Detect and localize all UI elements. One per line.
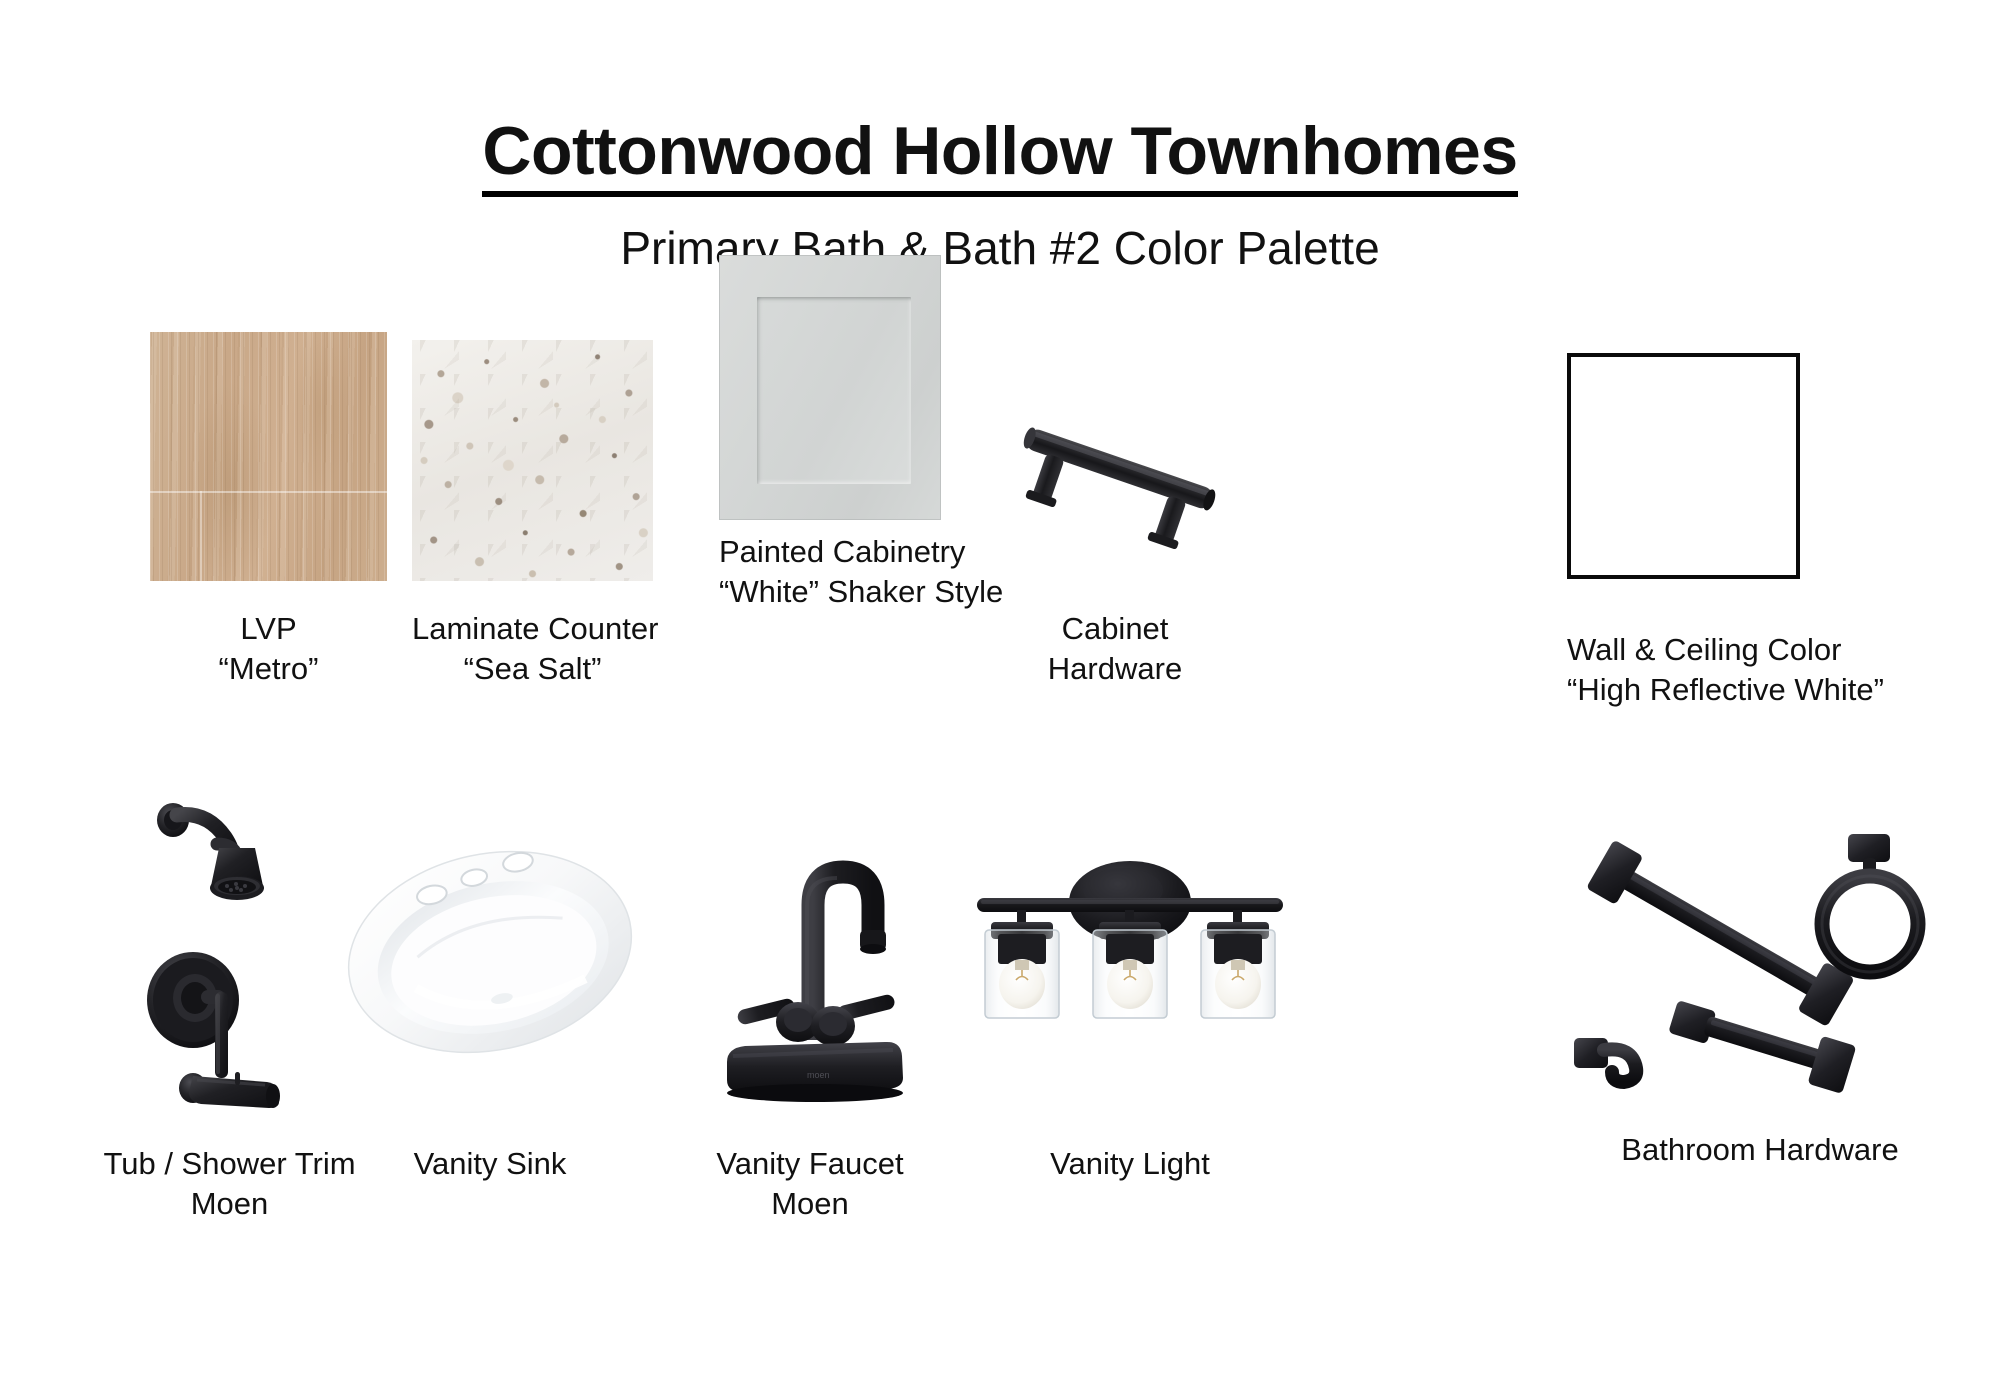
vanity-light-shade-left [985,910,1059,1018]
palette-item-laminate-counter: Laminate Counter “Sea Salt” [412,332,653,688]
vanity-sink-label-line1: Vanity Sink [414,1146,567,1181]
cabinet-hardware-label-line2: Hardware [1000,649,1230,689]
cabinet-swatch-wrap [719,255,941,504]
materials-row-1: LVP “Metro” Laminate Counter “Sea Salt” [0,332,2000,712]
vanity-light-shade-center [1093,910,1167,1018]
wall-color-caption: Wall & Ceiling Color “High Reflective Wh… [1567,630,1800,709]
terrazzo-swatch [412,340,653,581]
palette-item-vanity-light: Vanity Light [960,800,1300,1184]
laminate-label-line2: “Sea Salt” [412,649,653,689]
tub-shower-label-line2: Moen [72,1184,387,1224]
page-subtitle: Primary Bath & Bath #2 Color Palette [0,223,2000,274]
palette-item-bathroom-hardware: Bathroom Hardware [1540,800,1980,1170]
vanity-faucet-wrap: moen [650,800,970,1120]
shower-valve-trim-icon [147,952,239,1078]
bar-pull-image [1000,389,1230,569]
cabinet-hardware-caption: Cabinet Hardware [1000,609,1230,688]
shower-head-icon [157,803,264,900]
bathroom-hardware-caption: Bathroom Hardware [1540,1130,1980,1170]
wall-color-label-line2: “High Reflective White” [1567,670,1800,710]
bathroom-hardware-wrap [1540,800,1980,1120]
vanity-sink-wrap [330,800,650,1120]
wall-color-wrap [1567,353,1800,602]
vanity-light-shade-right [1201,910,1275,1018]
towel-bar-ring-hook-paper-holder-image [1560,820,1960,1120]
tub-spout-icon [179,1072,280,1108]
shaker-door-swatch [719,255,941,520]
bar-pull-wrap [1000,332,1230,581]
tub-shower-label-line1: Tub / Shower Trim [103,1146,355,1181]
terrazzo-grain-overlay [412,340,653,581]
shaker-door-recessed-panel [757,297,911,484]
vanity-light-label-line1: Vanity Light [1050,1146,1210,1181]
palette-item-vanity-sink: Vanity Sink [330,800,650,1184]
centerset-faucet-image: moen [685,810,935,1120]
towel-ring-icon [1822,834,1918,972]
cabinet-hardware-label-line1: Cabinet [1062,611,1169,646]
color-palette-board: Cottonwood Hollow Townhomes Primary Bath… [0,0,2000,1391]
shower-trim-image [115,800,345,1120]
palette-item-lvp: LVP “Metro” [150,332,387,688]
wall-color-label-line1: Wall & Ceiling Color [1567,632,1842,667]
bathroom-hardware-label-line1: Bathroom Hardware [1621,1132,1898,1167]
lvp-swatch-wrap [150,332,387,581]
palette-item-wall-ceiling-color: Wall & Ceiling Color “High Reflective Wh… [1567,332,1800,709]
wood-plank-swatch [150,332,387,581]
vanity-faucet-caption: Vanity Faucet Moen [650,1144,970,1223]
lvp-label-line1: LVP [240,611,296,646]
palette-item-cabinet-hardware: Cabinet Hardware [1000,332,1230,688]
lvp-label-line2: “Metro” [150,649,387,689]
laminate-swatch-wrap [412,332,653,581]
fixtures-row-2: Tub / Shower Trim Moen [0,800,2000,1220]
palette-item-painted-cabinetry: Painted Cabinetry “White” Shaker Style [719,332,941,611]
oval-sink-image [340,822,640,1082]
white-color-chip [1567,353,1800,579]
towel-bar-icon [1586,840,1855,1027]
cabinetry-label-line1: Painted Cabinetry [719,534,965,569]
palette-item-vanity-faucet: moen Vanity Faucet Moen [650,800,970,1223]
robe-hook-icon [1574,1038,1636,1082]
cabinetry-caption: Painted Cabinetry “White” Shaker Style [719,532,941,611]
board-header: Cottonwood Hollow Townhomes Primary Bath… [0,116,2000,274]
three-light-vanity-bar-image [965,834,1295,1064]
vanity-light-wrap [960,800,1300,1120]
vanity-faucet-label-line1: Vanity Faucet [716,1146,903,1181]
faucet-base-plate: moen [727,1042,903,1102]
laminate-caption: Laminate Counter “Sea Salt” [412,609,653,688]
vanity-faucet-label-line2: Moen [650,1184,970,1224]
lvp-caption: LVP “Metro” [150,609,387,688]
vanity-sink-caption: Vanity Sink [330,1144,650,1184]
svg-text:moen: moen [807,1070,830,1080]
laminate-label-line1: Laminate Counter [412,611,658,646]
vanity-light-caption: Vanity Light [960,1144,1300,1184]
cabinetry-label-line2: “White” Shaker Style [719,572,941,612]
page-title: Cottonwood Hollow Townhomes [482,116,1517,197]
